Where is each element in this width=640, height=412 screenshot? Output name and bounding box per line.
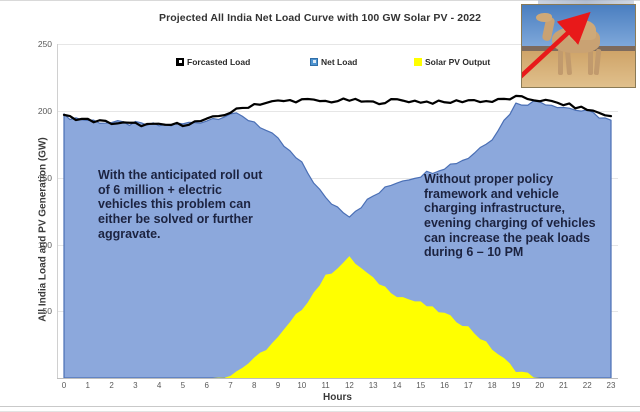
x-tick-22: 22 — [578, 381, 596, 390]
x-tick-11: 11 — [317, 381, 335, 390]
x-tick-0: 0 — [55, 381, 73, 390]
frame-divider-bottom — [0, 406, 640, 407]
x-tick-19: 19 — [507, 381, 525, 390]
x-tick-17: 17 — [459, 381, 477, 390]
x-tick-14: 14 — [388, 381, 406, 390]
camel-photo-inset — [521, 4, 636, 88]
x-tick-12: 12 — [340, 381, 358, 390]
x-tick-20: 20 — [531, 381, 549, 390]
x-tick-10: 10 — [293, 381, 311, 390]
x-tick-18: 18 — [483, 381, 501, 390]
y-tick-150: 150 — [22, 173, 52, 183]
x-axis-title: Hours — [57, 392, 618, 403]
x-tick-7: 7 — [221, 381, 239, 390]
annotation-left-electric-vehicles: With the anticipated roll out of 6 milli… — [98, 168, 274, 241]
x-tick-13: 13 — [364, 381, 382, 390]
x-tick-3: 3 — [126, 381, 144, 390]
x-tick-1: 1 — [79, 381, 97, 390]
x-tick-16: 16 — [436, 381, 454, 390]
x-tick-6: 6 — [198, 381, 216, 390]
x-tick-23: 23 — [602, 381, 620, 390]
x-tick-2: 2 — [103, 381, 121, 390]
x-tick-15: 15 — [412, 381, 430, 390]
y-tick-250: 250 — [22, 39, 52, 49]
chart-title: Projected All India Net Load Curve with … — [90, 12, 550, 24]
y-tick-100: 100 — [22, 240, 52, 250]
chart-screenshot: Projected All India Net Load Curve with … — [0, 0, 640, 412]
x-tick-8: 8 — [245, 381, 263, 390]
x-axis-line — [57, 378, 618, 379]
y-axis-title: All India Load and PV Generation (GW) — [38, 105, 49, 355]
y-tick-200: 200 — [22, 106, 52, 116]
x-tick-9: 9 — [269, 381, 287, 390]
annotation-right-evening-charging: Without proper policy framework and vehi… — [424, 172, 600, 260]
red-arrow-icon — [522, 5, 635, 87]
x-tick-21: 21 — [554, 381, 572, 390]
y-tick-50: 50 — [22, 306, 52, 316]
x-tick-4: 4 — [150, 381, 168, 390]
x-tick-5: 5 — [174, 381, 192, 390]
